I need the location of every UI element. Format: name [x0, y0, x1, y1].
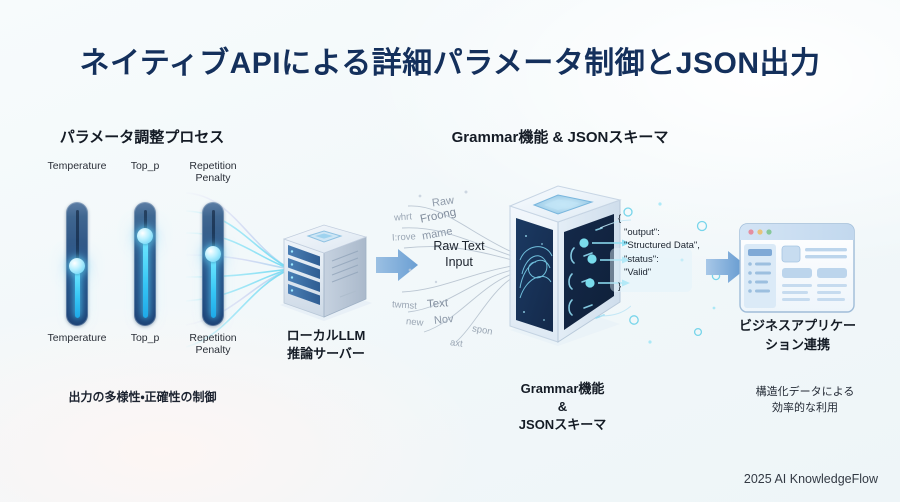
slider-repetition-penalty-label-top: Repetition Penalty — [182, 160, 244, 186]
business-app-label-line2: ション連携 — [765, 337, 830, 352]
middle-caption-line1: Grammar機能 — [521, 381, 605, 396]
json-line-output-key: "output": — [624, 226, 724, 240]
business-app-label-line1: ビジネスアプリケー — [739, 318, 856, 333]
business-application: ビジネスアプリケー ション連携 — [738, 222, 856, 322]
json-line-open: { — [618, 212, 724, 226]
slider-temperature-knob[interactable] — [69, 258, 85, 274]
slider-repetition-penalty[interactable]: Repetition Penalty Repetition Penalty — [182, 160, 244, 186]
server-label-line1: ローカルLLM — [287, 328, 366, 343]
local-llm-server: ローカルLLM 推論サーバー — [262, 205, 387, 380]
server-rack-icon — [262, 205, 387, 325]
left-section-heading: パラメータ調整プロセス — [22, 126, 262, 147]
middle-caption-line2: & — [558, 399, 567, 414]
slider-temperature[interactable]: Temperature Temperature — [46, 160, 108, 186]
slider-top-p[interactable]: Top_p Top_p — [114, 160, 176, 186]
slider-top-p-label-bottom: Top_p — [109, 332, 181, 344]
slider-temperature-track[interactable] — [66, 202, 88, 326]
middle-caption-line3: JSONスキーマ — [519, 417, 606, 432]
slider-top-p-knob[interactable] — [137, 228, 153, 244]
parameter-sliders: Temperature Temperature Top_p Top_p Repe… — [46, 160, 251, 375]
page-title: ネイティブAPIによる詳細パラメータ制御とJSON出力 — [0, 38, 900, 82]
middle-section-caption: Grammar機能 & JSONスキーマ — [455, 380, 670, 434]
app-window-icon — [738, 222, 856, 314]
raw-text-line2: Input — [445, 255, 473, 269]
right-section-caption: 構造化データによる 効率的な利用 — [710, 384, 900, 416]
slider-repetition-penalty-fill — [211, 260, 216, 318]
footer-credit: 2025 AI KnowledgeFlow — [744, 472, 878, 486]
business-app-label: ビジネスアプリケー ション連携 — [710, 316, 885, 354]
slider-repetition-penalty-label-bottom: Repetition Penalty — [177, 332, 249, 356]
slider-temperature-fill — [75, 272, 80, 318]
right-caption-line1: 構造化データによる — [756, 386, 855, 398]
slider-repetition-penalty-track[interactable] — [202, 202, 224, 326]
slider-top-p-label-top: Top_p — [114, 160, 176, 186]
grammar-json-visual: Raw whrt Froong I:rove mame twmst Text n… — [392, 160, 722, 360]
raw-text-line1: Raw Text — [433, 239, 484, 253]
server-label-line2: 推論サーバー — [287, 346, 365, 361]
middle-section-heading: Grammar機能 & JSONスキーマ — [400, 126, 720, 147]
slide-canvas: ネイティブAPIによる詳細パラメータ制御とJSON出力 パラメータ調整プロセス — [0, 0, 900, 502]
right-caption-line2: 効率的な利用 — [772, 402, 838, 414]
slider-top-p-fill — [143, 242, 148, 318]
slider-top-p-track[interactable] — [134, 202, 156, 326]
left-section-caption: 出力の多様性・正確性の制御 — [20, 388, 265, 405]
server-label: ローカルLLM 推論サーバー — [256, 327, 396, 363]
slider-temperature-label-top: Temperature — [46, 160, 108, 186]
slider-repetition-penalty-knob[interactable] — [205, 246, 221, 262]
slider-temperature-label-bottom: Temperature — [41, 332, 113, 344]
